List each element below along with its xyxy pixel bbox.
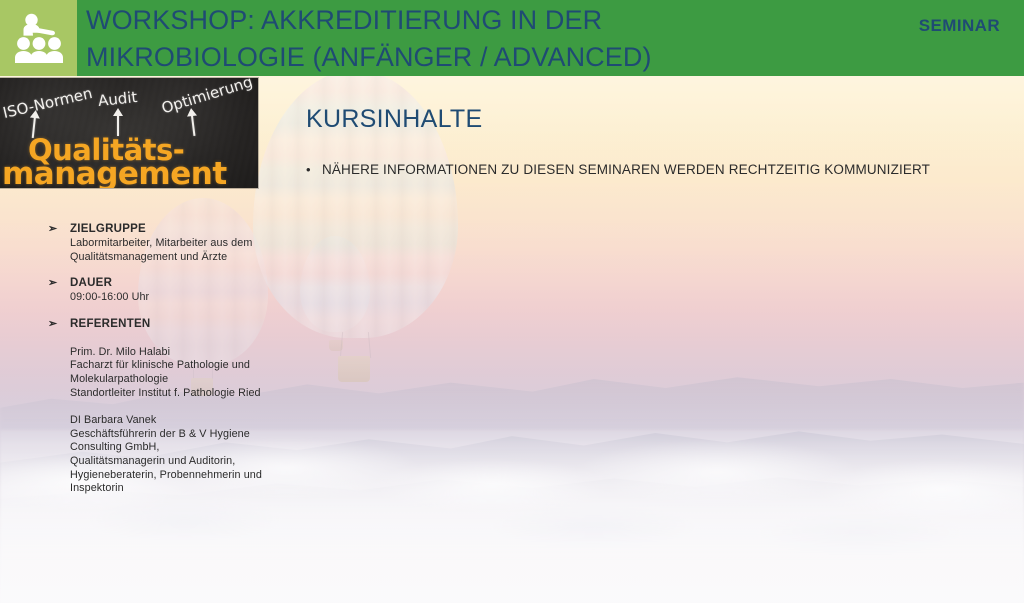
slide-canvas: WORKSHOP: AKKREDITIERUNG IN DER MIKROBIO… <box>0 0 1024 603</box>
chalkboard-image: ISO-Normen Audit Optimierung Qualitäts- … <box>0 78 258 188</box>
detail-dauer: ➢ DAUER 09:00-16:00 Uhr <box>48 276 288 305</box>
detail-heading: ➢ REFERENTEN <box>48 317 288 332</box>
detail-label: REFERENTEN <box>70 317 150 332</box>
header-bar: WORKSHOP: AKKREDITIERUNG IN DER MIKROBIO… <box>0 0 1024 76</box>
detail-label: DAUER <box>70 276 112 291</box>
arrow-bullet-icon: ➢ <box>48 317 70 332</box>
detail-heading: ➢ DAUER <box>48 276 288 291</box>
detail-referenten: ➢ REFERENTEN Prim. Dr. Milo Halabi Facha… <box>48 317 288 496</box>
speaker-bio: Prim. Dr. Milo Halabi Facharzt für klini… <box>70 346 288 400</box>
course-details: ➢ ZIELGRUPPE Labormitarbeiter, Mitarbeit… <box>48 222 288 508</box>
list-item-text: NÄHERE INFORMATIONEN ZU DIESEN SEMINAREN… <box>322 160 930 179</box>
chalk-headline-line2: management <box>2 156 227 188</box>
seminar-label: SEMINAR <box>919 16 1000 36</box>
arrow-bullet-icon: ➢ <box>48 222 70 237</box>
speaker-bio: DI Barbara Vanek Geschäftsführerin der B… <box>70 414 288 496</box>
presenter-audience-icon <box>14 11 64 65</box>
arrow-bullet-icon: ➢ <box>48 276 70 291</box>
detail-heading: ➢ ZIELGRUPPE <box>48 222 288 237</box>
detail-zielgruppe: ➢ ZIELGRUPPE Labormitarbeiter, Mitarbeit… <box>48 222 288 264</box>
logo-container <box>0 0 77 76</box>
detail-value: Labormitarbeiter, Mitarbeiter aus dem Qu… <box>70 237 288 264</box>
detail-label: ZIELGRUPPE <box>70 222 146 237</box>
bullet-dot-icon: • <box>306 160 322 179</box>
section-heading-kursinhalte: KURSINHALTE <box>306 105 482 134</box>
kursinhalte-bullet-list: • NÄHERE INFORMATIONEN ZU DIESEN SEMINAR… <box>306 160 996 179</box>
list-item: • NÄHERE INFORMATIONEN ZU DIESEN SEMINAR… <box>306 160 996 179</box>
detail-value: 09:00-16:00 Uhr <box>70 291 288 305</box>
page-title: WORKSHOP: AKKREDITIERUNG IN DER MIKROBIO… <box>86 2 786 76</box>
